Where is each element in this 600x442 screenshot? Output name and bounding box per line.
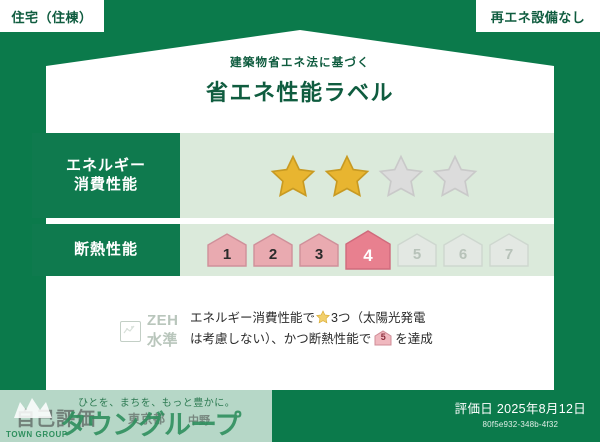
grade-value: 3 — [315, 246, 323, 268]
watermark-brand: タウングループ — [60, 403, 240, 442]
watermark-overlay: 自己評価 東京都 中野 ひとを、まちを、もっと豊かに。 タウングループ TOWN… — [0, 390, 272, 442]
building-type-tag-label: 住宅（住棟） — [11, 7, 92, 26]
grade-value: 1 — [223, 246, 231, 268]
evaluation-date-value: 2025年8月12日 — [497, 402, 586, 416]
grade-value: 4 — [363, 246, 372, 271]
energy-performance-key-line2: 消費性能 — [74, 176, 138, 195]
energy-performance-label: 住宅（住棟） 再エネ設備なし 建築物省エネ法に基づく 省エネ性能ラベル エネルギ… — [0, 0, 600, 442]
zeh-note-part2: は考慮しない）、かつ断熱性能で — [190, 332, 371, 346]
tree-logo-icon — [6, 392, 64, 422]
checkbox-icon — [120, 321, 141, 342]
star-icon-empty — [432, 154, 478, 198]
energy-star-rating — [180, 133, 554, 218]
zeh-note-area: ZEH水準 エネルギー消費性能で 3つ（太陽光発電 は考慮しない）、かつ断熱性能… — [32, 300, 554, 370]
house-grade-icon-6: 6 — [442, 232, 484, 268]
building-type-tag: 住宅（住棟） — [0, 0, 104, 32]
zeh-criteria-note: エネルギー消費性能で 3つ（太陽光発電 は考慮しない）、かつ断熱性能で 5を達成 — [172, 300, 554, 349]
zeh-standard-indicator: ZEH水準 — [32, 300, 172, 350]
label-main-title: 省エネ性能ラベル — [0, 75, 600, 107]
house-grade-icon-1: 1 — [206, 232, 248, 268]
evaluation-date: 評価日 2025年8月12日 — [455, 398, 586, 417]
renewable-energy-tag-label: 再エネ設備なし — [491, 7, 586, 26]
grade-value: 5 — [413, 246, 421, 268]
grade-value: 2 — [269, 246, 277, 268]
house-grade-icon-3: 3 — [298, 232, 340, 268]
evaluation-date-label: 評価日 — [455, 402, 493, 416]
renewable-energy-tag: 再エネ設備なし — [476, 0, 600, 32]
label-title: 建築物省エネ法に基づく 省エネ性能ラベル — [0, 54, 600, 107]
star-icon-filled — [324, 154, 370, 198]
zeh-note-grade-value: 5 — [374, 330, 392, 345]
house-grade-icon-7: 7 — [488, 232, 530, 268]
evaluation-date-block: 評価日 2025年8月12日 80f5e932-348b-4f32 — [455, 398, 586, 429]
star-icon-inline — [316, 310, 330, 324]
insulation-performance-key-label: 断熱性能 — [74, 241, 138, 260]
energy-performance-key: エネルギー 消費性能 — [32, 133, 180, 218]
insulation-performance-key: 断熱性能 — [32, 224, 180, 276]
document-id: 80f5e932-348b-4f32 — [455, 420, 586, 429]
energy-performance-key-line1: エネルギー — [66, 157, 146, 176]
label-footer: 評価日 2025年8月12日 80f5e932-348b-4f32 自己評価 東… — [0, 390, 600, 442]
grade-value: 6 — [459, 246, 467, 268]
label-subtitle: 建築物省エネ法に基づく — [0, 54, 600, 70]
insulation-performance-row: 断熱性能 1234567 — [32, 224, 554, 276]
zeh-note-part3: を達成 — [395, 332, 433, 346]
insulation-grade-scale: 1234567 — [180, 224, 554, 276]
grade-value: 7 — [505, 246, 513, 268]
house-grade-icon-4: 4 — [344, 229, 392, 271]
zeh-note-part1: エネルギー消費性能で — [190, 311, 315, 325]
house-grade-icon-5: 5 — [396, 232, 438, 268]
house-grade-icon-2: 2 — [252, 232, 294, 268]
star-icon-filled — [270, 154, 316, 198]
star-icon-empty — [378, 154, 424, 198]
zeh-note-star-count: 3つ（太陽光発電 — [331, 311, 425, 325]
watermark-town-group: TOWN GROUP — [6, 430, 68, 439]
house-grade-icon-inline: 5 — [374, 330, 392, 346]
energy-performance-row: エネルギー 消費性能 — [32, 133, 554, 218]
